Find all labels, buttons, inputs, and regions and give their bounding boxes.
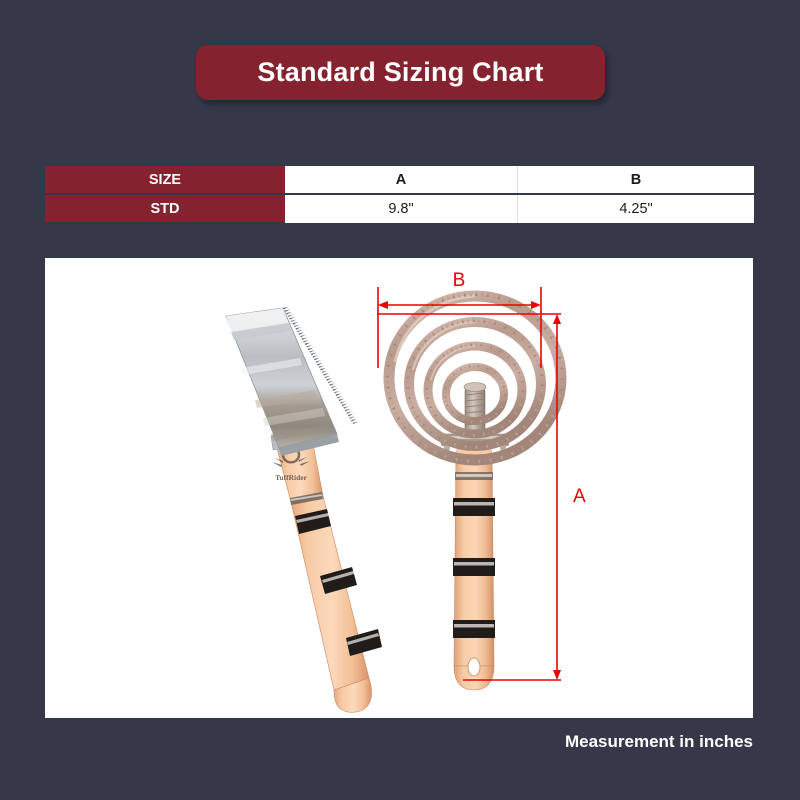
page-title: Standard Sizing Chart [257,57,543,88]
table-cell-size: STD [45,194,285,223]
table-header-row: SIZE A B [45,166,754,194]
dimension-b-label: B [453,270,466,291]
table-cell-a: 9.8" [285,194,518,223]
measurement-caption: Measurement in inches [565,732,753,752]
curry-comb-side-view: TuffRider [226,299,382,712]
product-illustration: TuffRider [45,258,753,718]
title-banner: Standard Sizing Chart [196,45,605,100]
table-header-a: A [285,166,518,194]
curry-comb-front-view [385,292,566,690]
dimension-a-label: A [573,486,586,507]
side-view-blade [226,299,358,456]
sizing-table: SIZE A B STD 9.8" 4.25" [45,166,754,224]
table-header-b: B [518,166,755,194]
brand-wordmark: TuffRider [275,473,307,482]
product-image-panel: TuffRider [45,258,753,718]
front-view-spiral-rings [389,296,561,460]
front-view-handle [453,436,495,690]
table-cell-b: 4.25" [518,194,755,223]
table-row: STD 9.8" 4.25" [45,194,754,223]
table-header-size: SIZE [45,166,285,194]
